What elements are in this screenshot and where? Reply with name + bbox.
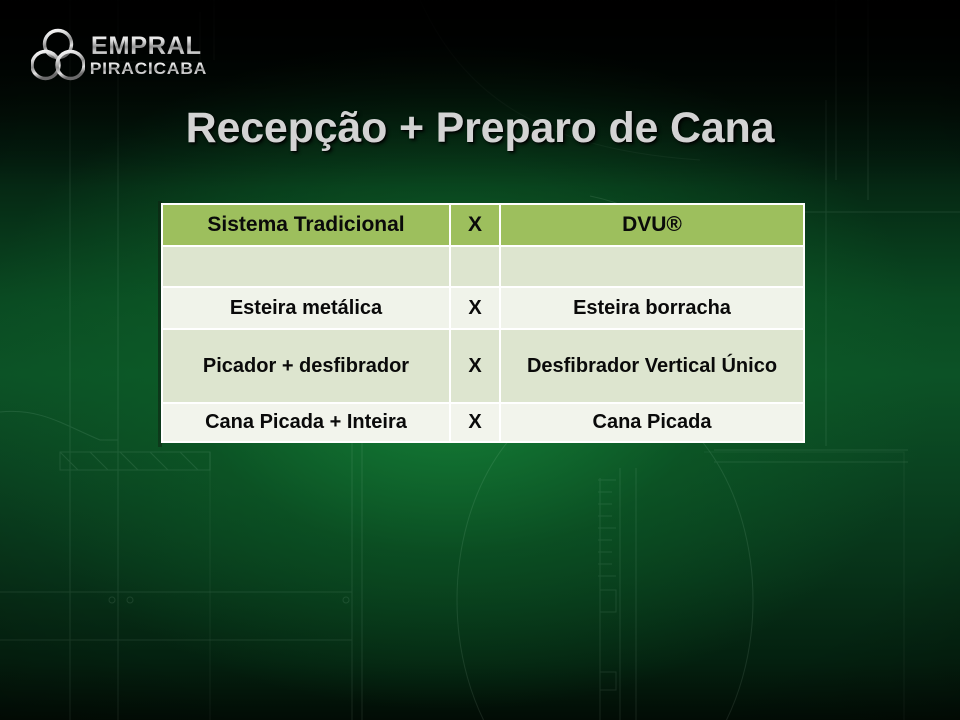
cell-right: Esteira borracha xyxy=(500,287,804,329)
table-row: Esteira metálica X Esteira borracha xyxy=(162,287,804,329)
slide-canvas: EMPRAL PIRACICABA Recepção + Preparo de … xyxy=(0,0,960,720)
cell-left: Picador + desfibrador xyxy=(162,329,450,403)
table-header-row: Sistema Tradicional X DVU® xyxy=(162,204,804,246)
header-cell-traditional: Sistema Tradicional xyxy=(162,204,450,246)
cell-mid xyxy=(450,246,500,287)
table-row: Picador + desfibrador X Desfibrador Vert… xyxy=(162,329,804,403)
table-row xyxy=(162,246,804,287)
slide-title: Recepção + Preparo de Cana xyxy=(0,104,960,153)
comparison-table: Sistema Tradicional X DVU® Esteira metál… xyxy=(161,203,805,443)
cell-left: Esteira metálica xyxy=(162,287,450,329)
cell-mid: X xyxy=(450,329,500,403)
logo-company-name: EMPRAL xyxy=(91,34,206,59)
cell-mid: X xyxy=(450,403,500,442)
logo-location-name: PIRACICABA xyxy=(90,60,207,77)
cell-right: Cana Picada xyxy=(500,403,804,442)
header-cell-versus: X xyxy=(450,204,500,246)
logo-wordmark: EMPRAL PIRACICABA xyxy=(92,33,205,77)
empral-logo: EMPRAL PIRACICABA xyxy=(31,26,205,84)
cell-right: Desfibrador Vertical Único xyxy=(500,329,804,403)
table-row: Cana Picada + Inteira X Cana Picada xyxy=(162,403,804,442)
header-cell-dvu: DVU® xyxy=(500,204,804,246)
cell-mid: X xyxy=(450,287,500,329)
cell-left: Cana Picada + Inteira xyxy=(162,403,450,442)
cell-left xyxy=(162,246,450,287)
three-interlocking-rings-icon xyxy=(31,27,85,83)
cell-right xyxy=(500,246,804,287)
